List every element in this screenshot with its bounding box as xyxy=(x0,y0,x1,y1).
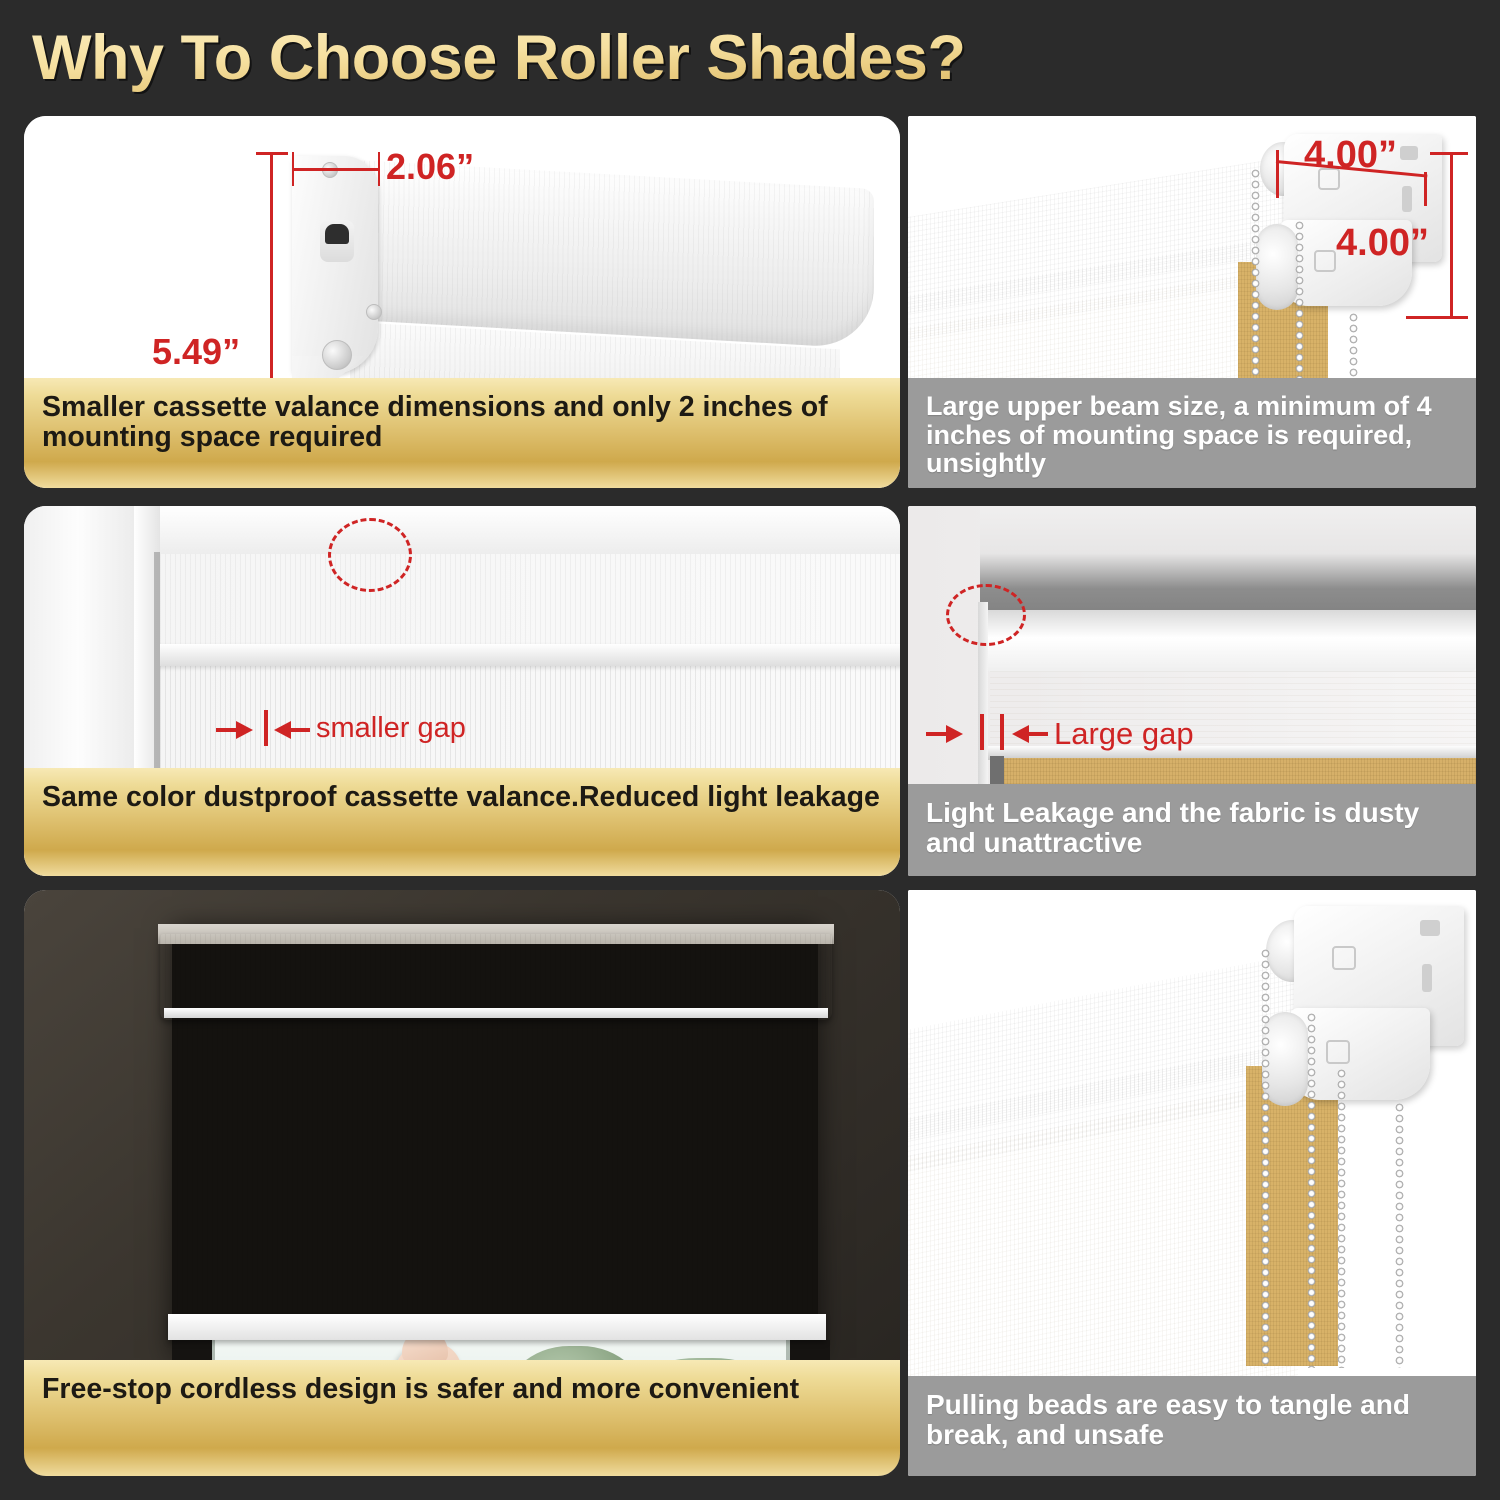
bracket-arrow-icon xyxy=(1314,250,1336,272)
panel-2-caption: Large upper beam size, a minimum of 4 in… xyxy=(908,378,1476,488)
panel-smaller-cassette: 2.06” 5.49” Smaller cassette valance dim… xyxy=(24,116,900,488)
roller-tube xyxy=(986,610,1476,672)
bottom-rail xyxy=(168,1314,826,1340)
window-head-casing xyxy=(134,506,900,554)
panel-cordless-design: Free-stop cordless design is safer and m… xyxy=(24,890,900,1476)
bracket-notch xyxy=(1400,146,1418,160)
cassette-rail xyxy=(156,644,900,666)
panel-4-caption: Light Leakage and the fabric is dusty an… xyxy=(908,784,1476,876)
panel-light-leakage: Large gap Light Leakage and the fabric i… xyxy=(908,506,1476,876)
dim-tick-top xyxy=(256,152,288,155)
light-gap xyxy=(990,756,1004,784)
panel-3-caption: Same color dustproof cassette valance.Re… xyxy=(24,768,900,876)
dim-line-width xyxy=(292,168,380,171)
dimension-width-label: 2.06” xyxy=(386,146,474,188)
dim-tick-left xyxy=(1276,150,1279,198)
bracket-notch xyxy=(1422,964,1432,992)
dim-tick-bottom xyxy=(1406,316,1468,319)
panel-large-upper-beam: 4.00” 4.00” Large upper beam size, a min… xyxy=(908,116,1476,488)
roller-end-cap-lower xyxy=(1256,224,1298,310)
dimension-height-label: 4.00” xyxy=(1336,222,1429,265)
gap-arrow-left xyxy=(274,721,291,739)
gap-shadow xyxy=(154,552,160,768)
panel-1-caption: Smaller cassette valance dimensions and … xyxy=(24,378,900,488)
gap-arrow-tail xyxy=(216,728,238,732)
beaded-chain xyxy=(1294,220,1305,378)
dimension-width-label: 4.00” xyxy=(1304,134,1397,177)
gap-arrow-right xyxy=(236,721,253,739)
gap-marker xyxy=(980,714,984,750)
cassette-body xyxy=(354,160,874,349)
roller-top-shadow xyxy=(980,506,1476,624)
page-title: Why To Choose Roller Shades? xyxy=(32,16,1132,100)
beaded-chain xyxy=(1348,312,1359,380)
dim-line-height xyxy=(1450,152,1453,318)
page-header: Why To Choose Roller Shades? xyxy=(32,16,1132,100)
dim-tick-top xyxy=(1430,152,1468,155)
beaded-chain xyxy=(1260,948,1271,1368)
beaded-chain xyxy=(1336,1068,1347,1368)
screw-icon xyxy=(322,340,352,370)
gap-arrow-left xyxy=(1012,725,1029,743)
panel-pulling-beads: Pulling beads are easy to tangle and bre… xyxy=(908,890,1476,1476)
gap-arrow-right xyxy=(946,725,963,743)
panel-5-caption: Free-stop cordless design is safer and m… xyxy=(24,1360,900,1476)
bracket-arrow-icon xyxy=(1326,1040,1350,1064)
bracket-arrow-icon xyxy=(1332,946,1356,970)
bracket-notch xyxy=(1402,186,1412,212)
bracket-notch xyxy=(1420,920,1440,936)
gap-arrow-tail xyxy=(926,732,948,736)
gap-label: smaller gap xyxy=(316,712,466,745)
shade-fabric-tan xyxy=(1004,758,1476,784)
beaded-chain xyxy=(1250,168,1261,378)
panel-6-caption: Pulling beads are easy to tangle and bre… xyxy=(908,1376,1476,1476)
screw-icon xyxy=(366,304,382,320)
gap-label: Large gap xyxy=(1054,716,1194,752)
highlight-circle xyxy=(946,584,1026,646)
cassette-slot xyxy=(320,220,354,262)
panel-dustproof-cassette: smaller gap Same color dustproof cassett… xyxy=(24,506,900,876)
gap-arrow-tail xyxy=(1028,732,1048,736)
cassette-seam xyxy=(164,1008,828,1018)
gap-arrow-tail xyxy=(290,728,310,732)
beaded-chain xyxy=(1306,1012,1317,1368)
gap-marker xyxy=(264,710,268,746)
gap-marker xyxy=(1000,714,1004,750)
dimension-height-label: 5.49” xyxy=(152,331,240,373)
highlight-circle xyxy=(328,518,412,592)
beaded-chain xyxy=(1394,1102,1405,1368)
shade-fabric xyxy=(172,1018,822,1328)
